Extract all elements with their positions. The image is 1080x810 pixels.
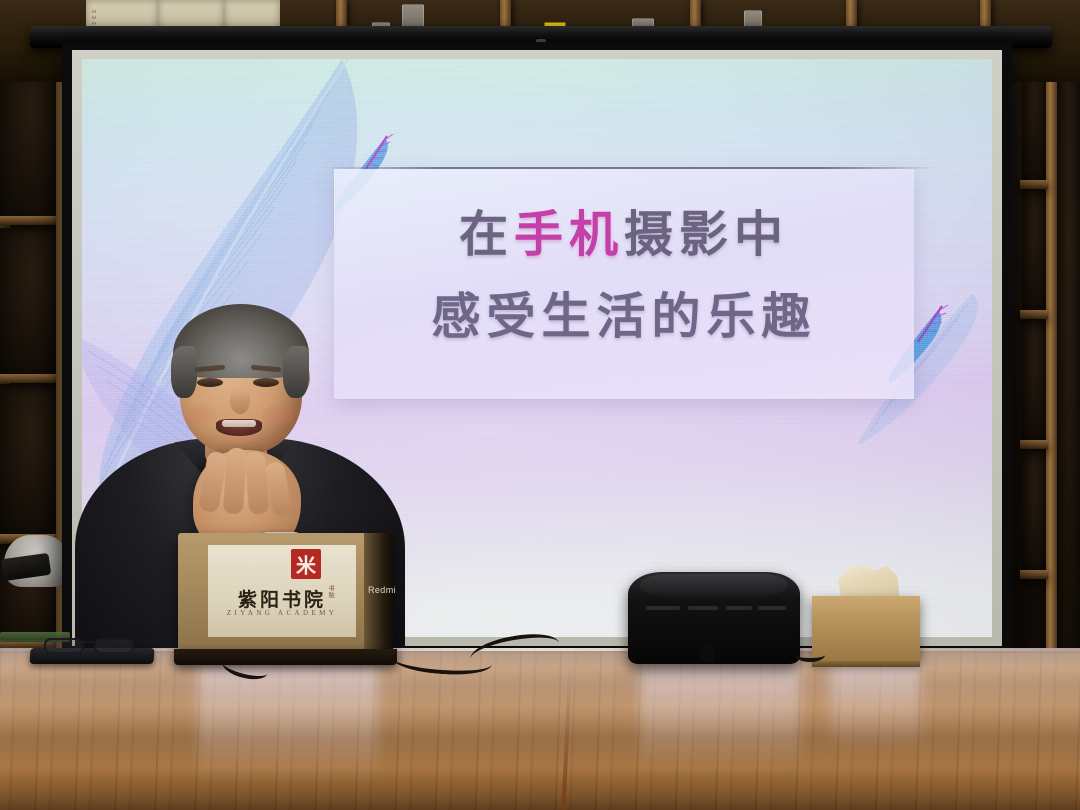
- cheek: [183, 404, 217, 426]
- speaker-vent: [646, 606, 680, 610]
- shelf-cell: [0, 228, 62, 376]
- speaker-vent: [726, 606, 752, 610]
- title-prefix: 在: [459, 207, 514, 262]
- laptop[interactable]: 紫阳书院 ZIYANG ACADEMY 书院 Redmi: [178, 533, 393, 663]
- power-cable: [795, 648, 825, 662]
- academy-name-en: ZIYANG ACADEMY: [208, 609, 356, 617]
- speaker-top: [640, 574, 788, 596]
- laptop-brand-label: Redmi: [368, 585, 396, 595]
- shelf-board: [0, 374, 62, 383]
- speaker-foot: [700, 644, 714, 662]
- shelf-cell: [1022, 190, 1046, 310]
- shelf-board: [1020, 180, 1048, 189]
- shelf-cell: [0, 384, 62, 536]
- academy-name-cn: 紫阳书院: [208, 585, 356, 612]
- title-highlight: 手机: [514, 207, 624, 262]
- hair-side: [283, 346, 309, 398]
- shelf-cell: [1022, 450, 1046, 570]
- eyeglasses: [44, 638, 140, 650]
- glasses-bridge: [80, 641, 94, 643]
- table-reflection-smear: [640, 660, 800, 770]
- finger: [245, 451, 269, 514]
- shelf-board: [1020, 440, 1048, 449]
- teeth: [222, 420, 256, 427]
- shelf-board: [1020, 570, 1048, 579]
- red-seal-icon: [291, 549, 321, 579]
- academy-side-mark: 书院: [326, 585, 333, 599]
- academy-logo-panel: 紫阳书院 ZIYANG ACADEMY 书院: [208, 545, 356, 637]
- black-speaker: [628, 572, 800, 664]
- cheek: [261, 404, 295, 426]
- nose: [230, 388, 250, 414]
- title-suffix: 摄影中: [624, 207, 789, 262]
- shelf-cell: [1058, 60, 1080, 660]
- photo-scene: 𝍕𝍔𝍖: [0, 0, 1080, 810]
- eye: [197, 378, 223, 387]
- slide-title-line-2: 感受生活的乐趣: [334, 277, 914, 348]
- shelf-post: [1046, 40, 1057, 680]
- eye: [253, 378, 279, 387]
- shelf-board: [0, 216, 62, 225]
- speaker-vent: [688, 606, 718, 610]
- shelf-board: [1020, 310, 1048, 319]
- shelf-cell: [1022, 320, 1046, 440]
- hair-side: [171, 346, 197, 398]
- table-reflection-smear: [830, 660, 920, 750]
- speaker-vent: [758, 606, 786, 610]
- laptop-base: [174, 649, 397, 665]
- wooden-tissue-box: [812, 596, 920, 662]
- glasses-lens: [44, 638, 84, 654]
- slide-title-rule: [330, 167, 930, 169]
- slide-title-line-1: 在手机摄影中: [334, 195, 914, 266]
- glasses-lens: [94, 638, 134, 654]
- table-reflection-smear: [198, 660, 378, 780]
- laptop-lid: 紫阳书院 ZIYANG ACADEMY 书院 Redmi: [178, 533, 393, 651]
- shelf-cell: [0, 60, 62, 220]
